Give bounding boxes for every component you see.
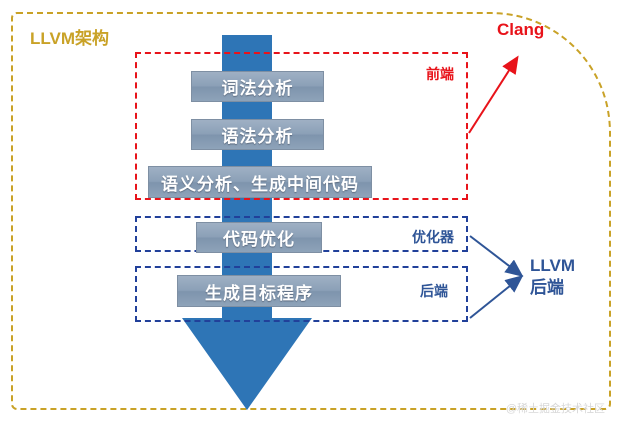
annotation-llvm-backend-line2: 后端 (530, 277, 575, 299)
diagram-canvas: LLVM架构 前端 优化器 后端 词法分析 语法分析 语义分析、生成中间代码 代… (0, 0, 623, 422)
group-label-frontend: 前端 (426, 64, 454, 84)
diagram-title: LLVM架构 (30, 24, 109, 49)
phase-target-code-generation: 生成目标程序 (177, 275, 341, 307)
annotation-clang: Clang (497, 20, 544, 40)
group-label-optimizer: 优化器 (412, 227, 454, 247)
annotation-llvm-backend-line1: LLVM (530, 255, 575, 277)
phase-syntax-analysis: 语法分析 (191, 119, 324, 150)
watermark: @稀土掘金技术社区 (506, 400, 605, 416)
phase-code-optimization: 代码优化 (196, 222, 322, 253)
phase-semantic-analysis-ir: 语义分析、生成中间代码 (148, 166, 372, 198)
annotation-llvm-backend: LLVM 后端 (530, 255, 575, 299)
group-label-backend: 后端 (420, 281, 448, 301)
phase-lexical-analysis: 词法分析 (191, 71, 324, 102)
